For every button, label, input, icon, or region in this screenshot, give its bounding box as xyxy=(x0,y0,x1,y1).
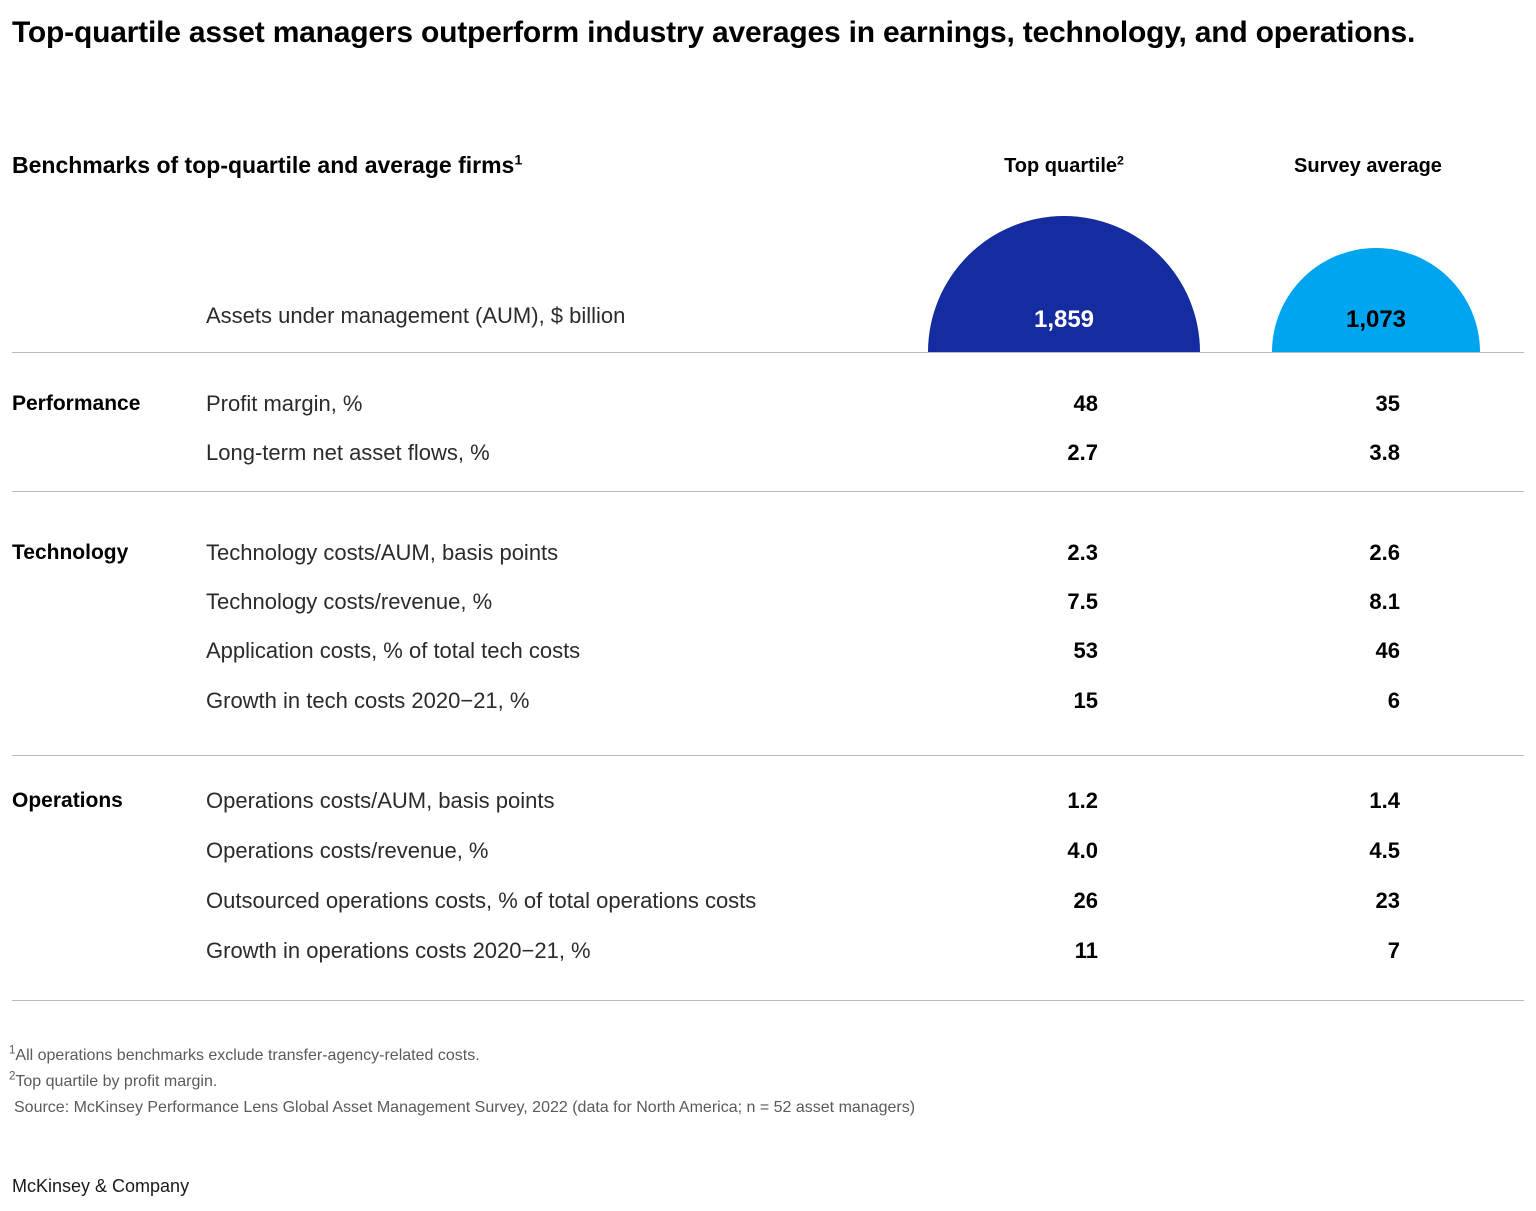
section-divider-2 xyxy=(12,491,1524,492)
source-line: Source: McKinsey Performance Lens Global… xyxy=(9,1095,915,1121)
value-survey-average-long-term-net-asset-flows: 3.8 xyxy=(1230,440,1400,466)
footnote-2-text: Top quartile by profit margin. xyxy=(15,1073,217,1090)
subhead-footnote-marker: 1 xyxy=(514,152,522,168)
row-label-growth-in-operations-costs: Growth in operations costs 2020−21, % xyxy=(206,938,591,964)
row-label-application-costs: Application costs, % of total tech costs xyxy=(206,638,580,664)
row-label-operations-costs-aum: Operations costs/AUM, basis points xyxy=(206,788,554,814)
semicircle-value-survey-average: 1,073 xyxy=(1272,306,1480,334)
row-label-operations-costs-revenue: Operations costs/revenue, % xyxy=(206,838,488,864)
row-label-profit-margin: Profit margin, % xyxy=(206,391,363,417)
row-label-aum: Assets under management (AUM), $ billion xyxy=(206,303,625,329)
footnote-1: 1All operations benchmarks exclude trans… xyxy=(9,1043,915,1069)
footnote-2: 2Top quartile by profit margin. xyxy=(9,1069,915,1095)
semicircle-bar-survey-average: 1,073 xyxy=(1272,248,1480,352)
group-label-technology: Technology xyxy=(12,541,128,565)
value-survey-average-operations-costs-revenue: 4.5 xyxy=(1230,838,1400,864)
value-survey-average-technology-costs-aum: 2.6 xyxy=(1230,540,1400,566)
value-top-quartile-technology-costs-aum: 2.3 xyxy=(930,540,1098,566)
value-top-quartile-growth-in-operations-costs: 11 xyxy=(930,938,1098,964)
value-survey-average-application-costs: 46 xyxy=(1230,638,1400,664)
value-survey-average-outsourced-operations-costs: 23 xyxy=(1230,888,1400,914)
row-label-technology-costs-revenue: Technology costs/revenue, % xyxy=(206,589,492,615)
row-label-outsourced-operations-costs: Outsourced operations costs, % of total … xyxy=(206,888,756,914)
value-top-quartile-operations-costs-aum: 1.2 xyxy=(930,788,1098,814)
semicircle-bar-top-quartile: 1,859 xyxy=(928,216,1200,352)
value-survey-average-technology-costs-revenue: 8.1 xyxy=(1230,589,1400,615)
page-title: Top-quartile asset managers outperform i… xyxy=(12,12,1432,53)
row-label-long-term-net-asset-flows: Long-term net asset flows, % xyxy=(206,440,490,466)
section-divider-3 xyxy=(12,755,1524,756)
value-survey-average-profit-margin: 35 xyxy=(1230,391,1400,417)
column-header-footnote-marker: 2 xyxy=(1117,153,1124,167)
row-label-technology-costs-aum: Technology costs/AUM, basis points xyxy=(206,540,558,566)
group-label-operations: Operations xyxy=(12,789,123,813)
column-header-top-quartile-label: Top quartile xyxy=(1004,155,1117,177)
column-header-top-quartile: Top quartile2 xyxy=(928,155,1200,178)
value-top-quartile-growth-in-tech-costs: 15 xyxy=(930,688,1098,714)
section-divider-4 xyxy=(12,1000,1524,1001)
chart-subhead-text: Benchmarks of top-quartile and average f… xyxy=(12,152,514,178)
section-divider-1 xyxy=(12,352,1524,353)
value-survey-average-growth-in-operations-costs: 7 xyxy=(1230,938,1400,964)
chart-subhead: Benchmarks of top-quartile and average f… xyxy=(12,152,522,179)
footnote-1-text: All operations benchmarks exclude transf… xyxy=(15,1047,479,1064)
value-top-quartile-outsourced-operations-costs: 26 xyxy=(930,888,1098,914)
value-top-quartile-application-costs: 53 xyxy=(930,638,1098,664)
group-label-performance: Performance xyxy=(12,392,140,416)
footnotes: 1All operations benchmarks exclude trans… xyxy=(9,1043,915,1121)
row-label-growth-in-tech-costs: Growth in tech costs 2020−21, % xyxy=(206,688,529,714)
value-top-quartile-technology-costs-revenue: 7.5 xyxy=(930,589,1098,615)
semicircle-value-top-quartile: 1,859 xyxy=(928,306,1200,334)
column-header-survey-average-label: Survey average xyxy=(1294,155,1442,177)
value-top-quartile-operations-costs-revenue: 4.0 xyxy=(930,838,1098,864)
column-header-survey-average: Survey average xyxy=(1253,155,1483,178)
value-top-quartile-long-term-net-asset-flows: 2.7 xyxy=(930,440,1098,466)
value-top-quartile-profit-margin: 48 xyxy=(930,391,1098,417)
mckinsey-logo-text: McKinsey & Company xyxy=(12,1176,189,1197)
chart-page: Top-quartile asset managers outperform i… xyxy=(0,0,1536,1211)
value-survey-average-operations-costs-aum: 1.4 xyxy=(1230,788,1400,814)
value-survey-average-growth-in-tech-costs: 6 xyxy=(1230,688,1400,714)
